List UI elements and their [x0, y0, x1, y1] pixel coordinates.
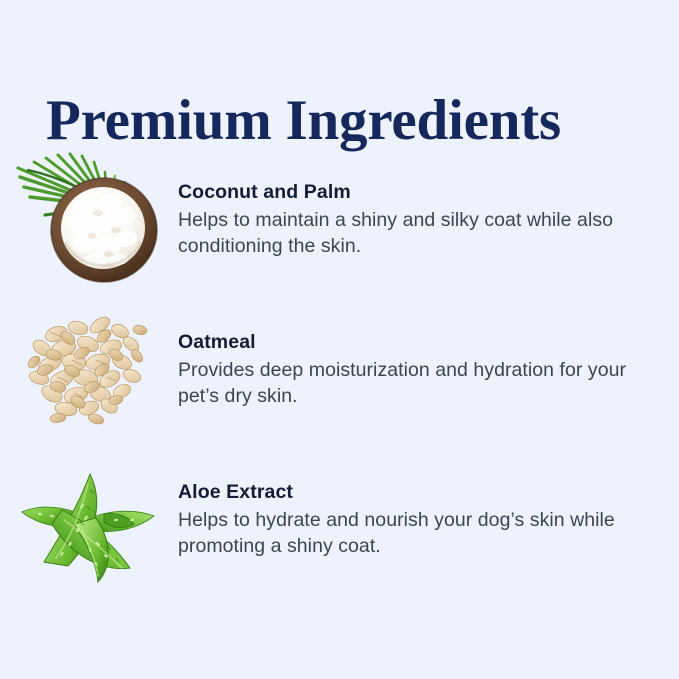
ingredient-text-block: Coconut and Palm Helps to maintain a shi…: [178, 180, 648, 260]
ingredient-name: Oatmeal: [178, 330, 648, 355]
ingredient-row: Coconut and Palm Helps to maintain a shi…: [0, 150, 679, 300]
oat-flakes: [26, 314, 148, 426]
ingredient-name: Coconut and Palm: [178, 180, 648, 205]
ingredient-description: Helps to maintain a shiny and silky coat…: [178, 208, 648, 260]
ingredient-name: Aloe Extract: [178, 480, 648, 505]
ingredient-description: Helps to hydrate and nourish your dog’s …: [178, 508, 648, 560]
oatmeal-image: [12, 300, 162, 440]
ingredient-row: Aloe Extract Helps to hydrate and nouris…: [0, 450, 679, 600]
ingredient-description: Provides deep moisturization and hydrati…: [178, 358, 648, 410]
premium-ingredients-panel: Premium Ingredients: [0, 0, 679, 679]
ingredient-list: Coconut and Palm Helps to maintain a shi…: [0, 150, 679, 600]
aloe-extract-image: [12, 450, 162, 590]
ingredient-row: Oatmeal Provides deep moisturization and…: [0, 300, 679, 450]
coconut-and-palm-image: [12, 150, 162, 290]
ingredient-text-block: Oatmeal Provides deep moisturization and…: [178, 330, 648, 410]
page-title: Premium Ingredients: [46, 90, 561, 152]
aloe-leaves: [22, 474, 154, 582]
ingredient-text-block: Aloe Extract Helps to hydrate and nouris…: [178, 480, 648, 560]
